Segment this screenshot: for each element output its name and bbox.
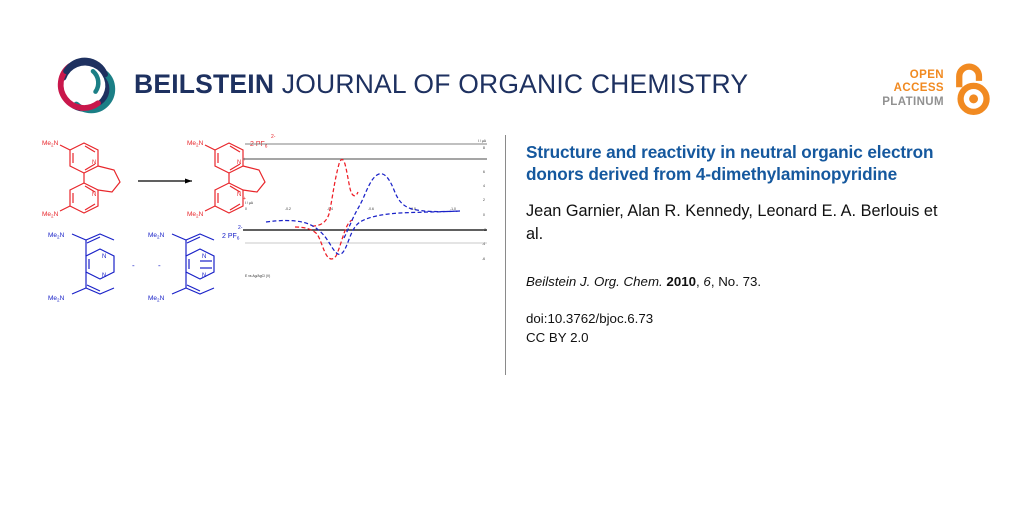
label-me2n: Me2N	[148, 232, 165, 240]
cv-xtick: -0.6	[368, 207, 374, 211]
label-n: N	[102, 273, 106, 279]
oa-line-open: OPEN	[882, 69, 944, 83]
wordmark-subtitle: JOURNAL OF ORGANIC CHEMISTRY	[274, 69, 748, 99]
oa-line-platinum: PLATINUM	[882, 96, 944, 110]
cv-ylabel: I / µA	[245, 201, 254, 205]
label-counterion-charge: 2-	[271, 134, 276, 140]
label-counterion: 2 PF6	[250, 141, 268, 150]
label-counterion-charge: 2-	[238, 225, 243, 231]
citation-journal: Beilstein J. Org. Chem.	[526, 274, 663, 289]
label-me2n: Me2N	[187, 140, 204, 148]
cv-xtick: 0	[245, 207, 247, 211]
reaction-arrow	[138, 179, 192, 184]
cv-ytick: 4	[483, 184, 485, 188]
citation-number: No. 73.	[718, 274, 761, 289]
cv-xtick: -0.2	[285, 207, 291, 211]
label-n: N	[102, 254, 106, 260]
open-access-badge[interactable]: OPEN ACCESS PLATINUM	[882, 58, 990, 120]
citation-year: 2010	[666, 274, 696, 289]
wordmark-beilstein: BEILSTEIN	[134, 69, 274, 99]
page-header: BEILSTEIN JOURNAL OF ORGANIC CHEMISTRY O…	[0, 0, 1024, 130]
journal-wordmark: BEILSTEIN JOURNAL OF ORGANIC CHEMISTRY	[134, 71, 748, 98]
cv-xlabel: E vs Ag/AgCl (V)	[245, 274, 270, 278]
cyclic-voltammogram: I / µA 0 -0.2 -0.4 -0.6 -0.8 -1.0 E vs A…	[243, 139, 487, 278]
cv-ytick: 0	[483, 213, 485, 217]
label-dash: -	[132, 261, 135, 270]
label-n: N	[202, 254, 206, 260]
cv-ytick: -2	[483, 228, 486, 232]
cv-ytick: 6	[483, 170, 485, 174]
cv-ytitle: I / µA	[478, 139, 487, 143]
article-citation: Beilstein J. Org. Chem. 2010, 6, No. 73.	[526, 273, 956, 292]
journal-logo[interactable]: BEILSTEIN JOURNAL OF ORGANIC CHEMISTRY	[52, 52, 748, 116]
cv-ytick: -6	[482, 257, 485, 261]
label-me2n: Me2N	[187, 211, 204, 219]
article-title[interactable]: Structure and reactivity in neutral orga…	[526, 141, 956, 186]
label-me2n: Me2N	[148, 295, 165, 303]
label-me2n: Me2N	[48, 295, 65, 303]
label-counterion: 2 PF6	[222, 233, 240, 242]
article-license[interactable]: CC BY 2.0	[526, 328, 956, 347]
article-authors: Jean Garnier, Alan R. Kennedy, Leonard E…	[526, 200, 956, 246]
graphical-abstract-figure: Me2N Me2N N N Me2N Me2N N N + +	[40, 130, 495, 305]
graphical-abstract: Me2N Me2N N N Me2N Me2N N N + +	[40, 130, 495, 305]
label-me2n: Me2N	[42, 211, 59, 219]
open-padlock-icon	[950, 63, 990, 115]
label-charge-plus: +	[243, 157, 246, 163]
oa-line-access: ACCESS	[882, 82, 944, 96]
cv-ytick: -4	[482, 242, 485, 246]
label-dash: -	[158, 261, 161, 270]
label-me2n: Me2N	[48, 232, 65, 240]
vertical-divider	[505, 135, 506, 375]
label-n-plus: N	[237, 192, 241, 198]
scheme-reactant-red	[60, 143, 120, 213]
label-n: N	[202, 273, 206, 279]
scheme-donor-product-blue	[172, 234, 214, 294]
label-n: N	[92, 160, 96, 166]
label-n: N	[92, 192, 96, 198]
label-me2n: Me2N	[42, 140, 59, 148]
open-access-text: OPEN ACCESS PLATINUM	[882, 69, 944, 110]
scheme-product-red	[205, 143, 265, 213]
citation-volume: 6	[703, 274, 710, 289]
article-doi[interactable]: doi:10.3762/bjoc.6.73	[526, 309, 956, 328]
scheme-donor-blue	[72, 234, 114, 294]
cv-ytick: 8	[483, 146, 485, 150]
cv-ytick: 2	[483, 198, 485, 202]
cv-xtick: -1.0	[450, 207, 456, 211]
beilstein-spiral-logo-icon	[52, 52, 116, 116]
article-metadata: Structure and reactivity in neutral orga…	[526, 141, 956, 347]
label-n-plus: N	[237, 160, 241, 166]
